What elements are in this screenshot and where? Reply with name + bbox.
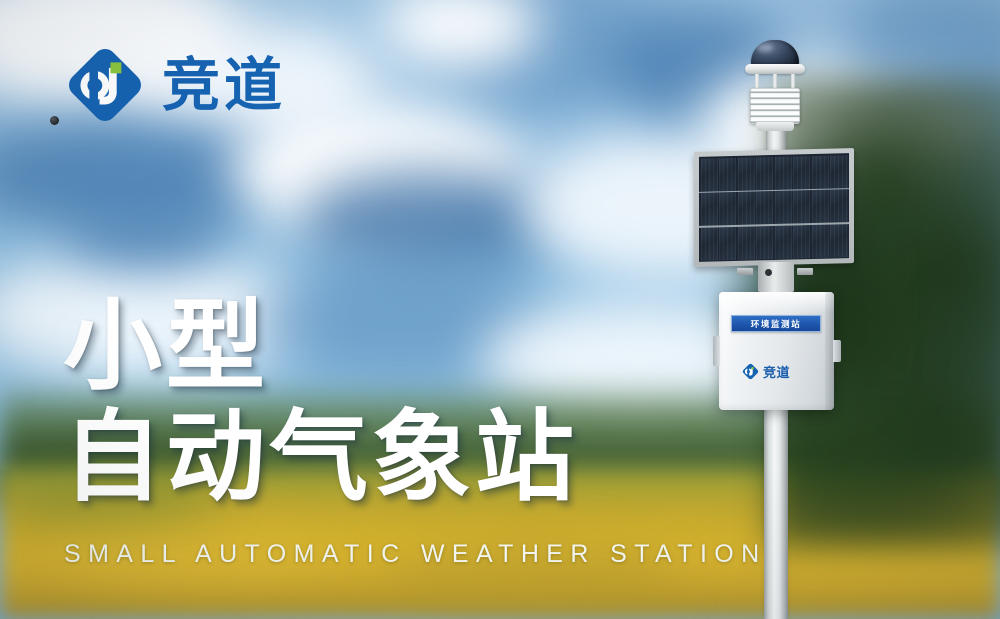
- enclosure-top-highlight: [719, 292, 834, 314]
- solar-panel-bracket: [758, 262, 794, 292]
- solar-cell: [701, 192, 718, 225]
- solar-cell: [793, 190, 810, 223]
- brand-logo[interactable]: 竞道: [66, 46, 286, 124]
- solar-cell: [719, 226, 736, 259]
- solar-cell: [812, 224, 829, 257]
- enclosure-left-hinge: [713, 336, 720, 366]
- solar-cell: [793, 156, 810, 189]
- enclosure-banner-text: 环境监测站: [751, 318, 802, 330]
- panel-bracket-arm-right: [797, 268, 813, 275]
- solar-cell: [756, 157, 773, 190]
- weather-station-banner: 环境监测站 竞道: [0, 0, 1000, 619]
- mast-pole-lower: [764, 410, 788, 619]
- solar-cell: [719, 192, 736, 225]
- solar-cell: [775, 225, 792, 258]
- brand-name-text: 竞道: [162, 56, 286, 114]
- solar-cell: [701, 227, 718, 260]
- solar-cell: [830, 224, 847, 257]
- solar-cell: [738, 191, 755, 224]
- subtitle-text: SMALL AUTOMATIC WEATHER STATION: [64, 540, 767, 569]
- jingdao-diamond-logo-icon: [742, 363, 759, 380]
- enclosure-right-latch: [833, 340, 841, 362]
- enclosure-bottom-screw: [50, 116, 59, 125]
- solar-cell: [793, 225, 810, 258]
- enclosure-box: 环境监测站 竞道: [719, 292, 834, 410]
- enclosure-banner: 环境监测站: [731, 315, 821, 332]
- solar-cell: [738, 226, 755, 259]
- enclosure-brand-text: 竞道: [763, 362, 790, 381]
- headline-line-2: 自动气象站: [63, 407, 578, 510]
- solar-cell: [830, 189, 847, 222]
- solar-cell: [812, 190, 829, 223]
- radiation-shield-louvers: [750, 88, 800, 124]
- solar-cell: [775, 191, 792, 224]
- solar-cell: [830, 155, 847, 188]
- panel-bracket-arm-left: [737, 268, 753, 275]
- enclosure-brand-logo: 竞道: [742, 362, 790, 381]
- solar-cell: [738, 157, 755, 190]
- sensor-dome-rim: [745, 64, 805, 74]
- solar-cell: [701, 158, 718, 191]
- solar-cell: [719, 157, 736, 190]
- solar-cell: [756, 226, 773, 259]
- solar-panel: [694, 148, 854, 267]
- solar-cell: [812, 155, 829, 188]
- headline-block: 小型 自动气象站: [63, 296, 578, 510]
- headline-line-1: 小型: [63, 296, 578, 399]
- solar-cell: [756, 191, 773, 224]
- radiation-shield-base: [756, 122, 794, 131]
- jingdao-diamond-logo-icon: [66, 46, 144, 124]
- solar-cell: [775, 156, 792, 189]
